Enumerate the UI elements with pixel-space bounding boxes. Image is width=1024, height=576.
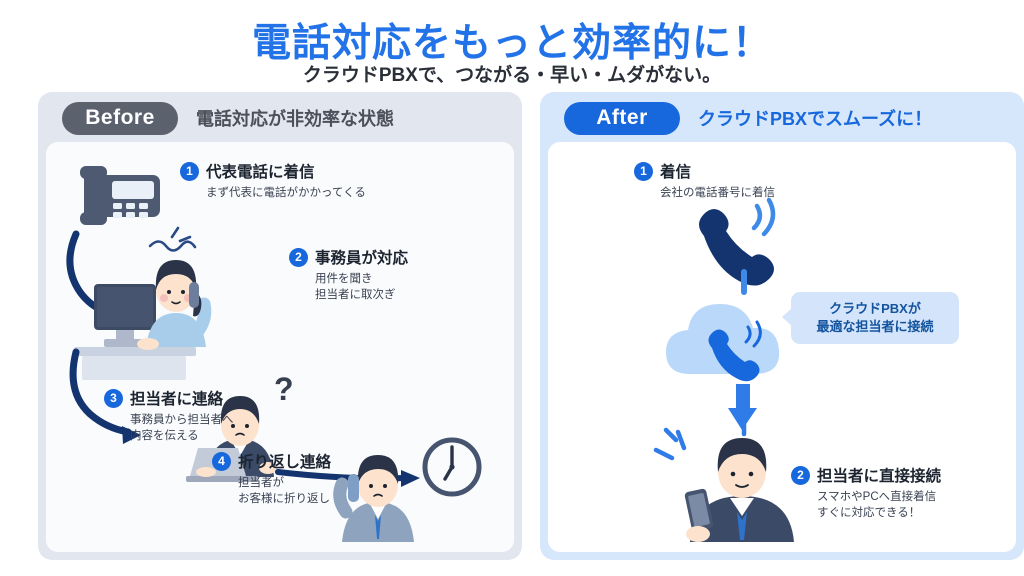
- ringing-handset-icon: [699, 200, 774, 286]
- before-panel-header: Before 電話対応が非効率な状態: [38, 92, 522, 144]
- before-panel-body: ?: [46, 142, 514, 552]
- before-panel-heading: 電話対応が非効率な状態: [196, 105, 394, 131]
- before-step-4-desc: 担当者が お客様に折り返し: [238, 475, 331, 508]
- step-number-badge: 4: [212, 452, 231, 471]
- after-panel-body: 1 着信 会社の電話番号に着信 2 担当者に直接接続 スマホやPCへ直接着信 す…: [548, 142, 1016, 552]
- before-step-3-desc: 事務員から担当者へ 内容を伝える: [130, 412, 234, 445]
- before-step-3: 3 担当者に連絡 事務員から担当者へ 内容を伝える: [104, 387, 234, 445]
- before-step-2: 2 事務員が対応 用件を聞き 担当者に取次ぎ: [289, 246, 408, 304]
- after-badge: After: [564, 102, 680, 135]
- before-step-1-title: 1 代表電話に着信: [180, 160, 366, 182]
- step-number-badge: 2: [289, 248, 308, 267]
- before-step-1-desc: まず代表に電話がかかってくる: [206, 185, 366, 201]
- callout-line-2: 最適な担当者に接続: [816, 318, 933, 336]
- step-number-badge: 3: [104, 389, 123, 408]
- cloud-pbx-icon: [666, 304, 779, 381]
- before-step-2-title: 2 事務員が対応: [289, 246, 408, 268]
- cloud-pbx-callout: クラウドPBXが 最適な担当者に接続: [791, 292, 959, 344]
- smartphone-user-illustration: [656, 420, 794, 542]
- down-arrow-icon: [728, 384, 757, 430]
- after-panel-heading: クラウドPBXでスムーズに！: [698, 105, 932, 131]
- step-number-badge: 1: [180, 162, 199, 181]
- before-panel: Before 電話対応が非効率な状態: [38, 92, 522, 560]
- callout-line-1: クラウドPBXが: [829, 300, 921, 318]
- before-step-3-title: 3 担当者に連絡: [104, 387, 234, 409]
- before-badge: Before: [62, 102, 178, 135]
- after-step-2-title: 2 担当者に直接接続: [791, 464, 941, 486]
- phone-cord-icon: [150, 228, 195, 251]
- desk-phone-icon: [80, 166, 160, 225]
- after-step-1: 1 着信 会社の電話番号に着信: [634, 160, 775, 201]
- after-step-2: 2 担当者に直接接続 スマホやPCへ直接着信 すぐに対応できる！: [791, 464, 941, 522]
- question-mark-icon: ?: [274, 371, 294, 407]
- step-number-badge: 1: [634, 162, 653, 181]
- operator-illustration: [74, 260, 206, 380]
- before-step-1: 1 代表電話に着信 まず代表に電話がかかってくる: [180, 160, 366, 201]
- step-number-badge: 2: [791, 466, 810, 485]
- before-step-2-desc: 用件を聞き 担当者に取次ぎ: [315, 271, 408, 304]
- after-step-1-title: 1 着信: [634, 160, 775, 182]
- after-illustrations: [548, 142, 1016, 552]
- before-step-4-title: 4 折り返し連絡: [212, 450, 331, 472]
- after-step-2-desc: スマホやPCへ直接着信 すぐに対応できる！: [817, 489, 941, 522]
- employee-phone-illustration: [340, 455, 414, 542]
- after-step-1-desc: 会社の電話番号に着信: [660, 185, 775, 201]
- after-panel-header: After クラウドPBXでスムーズに！: [540, 92, 1024, 144]
- before-step-4: 4 折り返し連絡 担当者が お客様に折り返し: [212, 450, 331, 508]
- arrow-1-icon: [70, 234, 106, 312]
- clock-icon: [425, 440, 479, 494]
- page-subtitle: クラウドPBXで、つながる・早い・ムダがない。: [0, 60, 1024, 87]
